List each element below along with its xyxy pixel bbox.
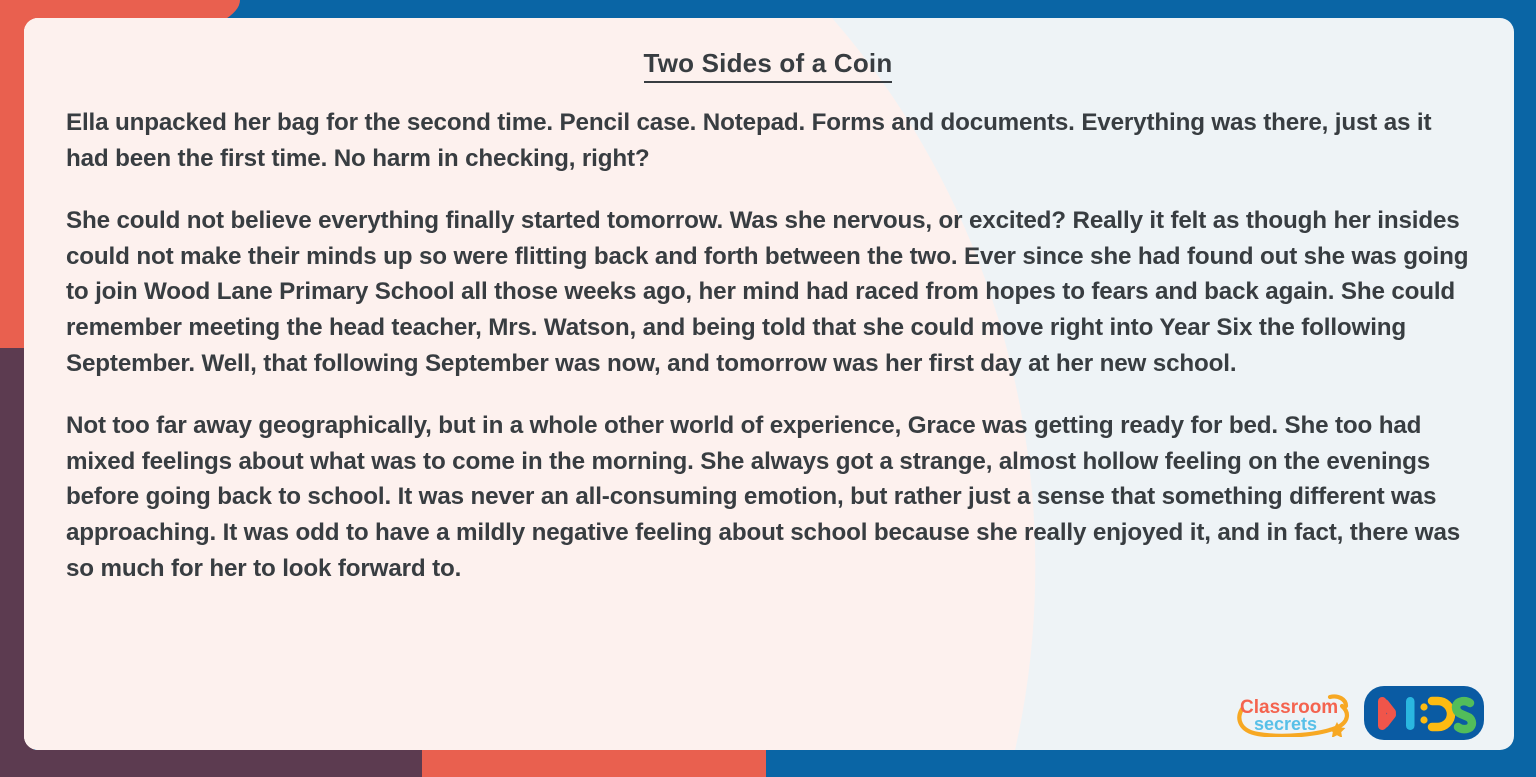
kids-logo bbox=[1364, 686, 1484, 740]
branding-logos: Classroom secrets bbox=[1234, 686, 1484, 740]
classroom-secrets-logo: Classroom secrets bbox=[1234, 689, 1352, 737]
body-paragraph-2: She could not believe everything finally… bbox=[66, 203, 1470, 381]
kids-letter-i bbox=[1406, 697, 1415, 730]
body-paragraph-1: Ella unpacked her bag for the second tim… bbox=[66, 105, 1470, 176]
card-inner: Two Sides of a Coin Ella unpacked her ba… bbox=[24, 18, 1514, 750]
frame-bottom-blue bbox=[766, 750, 1536, 777]
svg-text:secrets: secrets bbox=[1254, 714, 1317, 734]
frame-bottom-purple bbox=[0, 750, 422, 777]
page-title-text: Two Sides of a Coin bbox=[644, 48, 893, 83]
body-paragraph-3: Not too far away geographically, but in … bbox=[66, 408, 1470, 586]
worksheet-slide: Two Sides of a Coin Ella unpacked her ba… bbox=[0, 0, 1536, 777]
page-title: Two Sides of a Coin bbox=[66, 48, 1470, 79]
frame-bottom-coral bbox=[422, 750, 766, 777]
frame-bottom-strip bbox=[0, 750, 1536, 777]
content-card: Two Sides of a Coin Ella unpacked her ba… bbox=[24, 18, 1514, 750]
